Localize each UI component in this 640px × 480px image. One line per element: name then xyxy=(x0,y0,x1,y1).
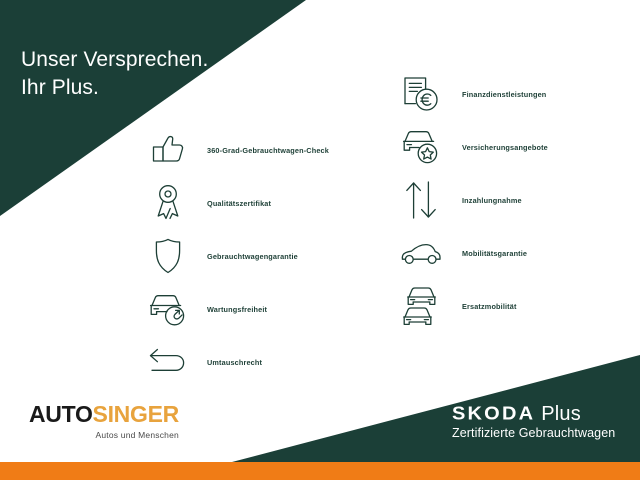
dealer-tagline: Autos und Menschen xyxy=(29,430,179,440)
feature-label: Ersatzmobilität xyxy=(462,302,517,311)
feature-item: Gebrauchtwagengarantie xyxy=(145,230,385,282)
feature-list-right: Finanzdienstleistungen Versicherungsange… xyxy=(398,68,633,333)
feature-label: Mobilitätsgarantie xyxy=(462,249,527,258)
feature-list-left: 360-Grad-Gebrauchtwagen-Check Qualitätsz… xyxy=(145,124,385,389)
feature-item: Qualitätszertifikat xyxy=(145,177,385,229)
headline-line-2: Ihr Plus. xyxy=(21,74,208,102)
skoda-plus-lockup: SKODAPlus Zertifizierte Gebrauchtwagen xyxy=(452,404,615,440)
feature-label: Qualitätszertifikat xyxy=(207,199,271,208)
dealer-wordmark-auto: AUTO xyxy=(29,401,93,427)
promo-banner: Unser Versprechen. Ihr Plus. 360-Grad-Ge… xyxy=(0,0,640,480)
shield-icon xyxy=(145,233,191,279)
feature-item: Ersatzmobilität xyxy=(398,280,633,332)
award-rosette-icon xyxy=(145,180,191,226)
feature-label: Finanzdienstleistungen xyxy=(462,90,546,99)
thumbs-up-icon xyxy=(145,127,191,173)
orange-bottom-bar xyxy=(0,462,640,480)
feature-item: Wartungsfreiheit xyxy=(145,283,385,335)
feature-item: 360-Grad-Gebrauchtwagen-Check xyxy=(145,124,385,176)
feature-item: Finanzdienstleistungen xyxy=(398,68,633,120)
car-star-icon xyxy=(398,124,444,170)
skoda-plus-suffix: Plus xyxy=(541,403,581,425)
feature-label: Umtauschrecht xyxy=(207,358,262,367)
car-wrench-icon xyxy=(145,286,191,332)
page-title: Unser Versprechen. Ihr Plus. xyxy=(21,18,208,130)
dealer-wordmark-singer: SINGER xyxy=(93,401,179,427)
headline-line-1: Unser Versprechen. xyxy=(21,48,208,71)
feature-label: Gebrauchtwagengarantie xyxy=(207,252,298,261)
feature-item: Umtauschrecht xyxy=(145,336,385,388)
skoda-brand-name: SKODA xyxy=(452,405,535,423)
up-down-arrows-icon xyxy=(398,177,444,223)
car-side-icon xyxy=(398,230,444,276)
two-cars-icon xyxy=(398,283,444,329)
feature-item: Mobilitätsgarantie xyxy=(398,227,633,279)
feature-item: Versicherungsangebote xyxy=(398,121,633,173)
feature-label: Inzahlungnahme xyxy=(462,196,522,205)
feature-item: Inzahlungnahme xyxy=(398,174,633,226)
skoda-brand-line: SKODAPlus xyxy=(452,404,615,424)
feature-label: 360-Grad-Gebrauchtwagen-Check xyxy=(207,146,329,155)
document-euro-icon xyxy=(398,71,444,117)
return-arrow-icon xyxy=(145,339,191,385)
skoda-subtitle: Zertifizierte Gebrauchtwagen xyxy=(452,426,615,440)
feature-label: Wartungsfreiheit xyxy=(207,305,267,314)
feature-label: Versicherungsangebote xyxy=(462,143,548,152)
dealer-logo: AUTOSINGER Autos und Menschen xyxy=(29,403,179,440)
dealer-wordmark: AUTOSINGER xyxy=(29,403,179,426)
